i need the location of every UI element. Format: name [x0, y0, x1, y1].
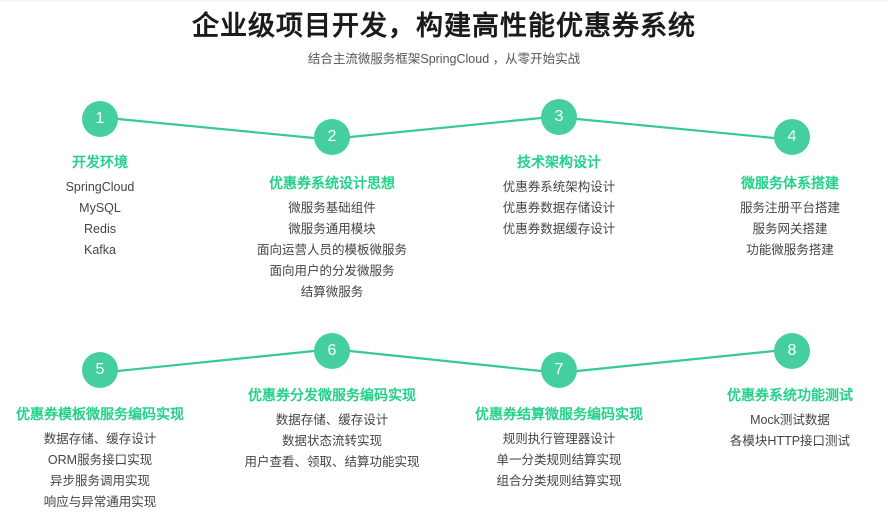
node-4-heading: 微服务体系搭建: [692, 173, 888, 193]
node-1-items: SpringCloud MySQL Redis Kafka: [0, 177, 200, 261]
list-item: 微服务通用模块: [232, 219, 432, 240]
node-5-heading: 优惠券模板微服务编码实现: [0, 404, 200, 424]
roadmap-infographic: 企业级项目开发，构建高性能优惠券系统 结合主流微服务框架SpringCloud …: [0, 0, 888, 519]
node-5-number[interactable]: 5: [82, 352, 118, 388]
list-item: 规则执行管理器设计: [459, 429, 659, 450]
list-item: 微服务基础组件: [232, 198, 432, 219]
node-1-number[interactable]: 1: [82, 101, 118, 137]
node-3-heading: 技术架构设计: [459, 152, 659, 172]
list-item: 用户查看、领取、结算功能实现: [232, 452, 432, 473]
list-item: 各模块HTTP接口测试: [692, 431, 888, 452]
list-item: 数据存储、缓存设计: [0, 429, 200, 450]
list-item: 优惠券系统架构设计: [459, 177, 659, 198]
list-item: 优惠券数据缓存设计: [459, 219, 659, 240]
list-item: Redis: [0, 219, 200, 240]
list-item: 单一分类规则结算实现: [459, 450, 659, 471]
list-item: 响应与异常通用实现: [0, 492, 200, 513]
node-7-heading: 优惠券结算微服务编码实现: [459, 404, 659, 424]
list-item: 异步服务调用实现: [0, 471, 200, 492]
list-item: 数据存储、缓存设计: [232, 410, 432, 431]
list-item: Mock测试数据: [692, 410, 888, 431]
node-8-heading: 优惠券系统功能测试: [692, 385, 888, 405]
list-item: ORM服务接口实现: [0, 450, 200, 471]
node-2-number[interactable]: 2: [314, 119, 350, 155]
node-7-items: 规则执行管理器设计 单一分类规则结算实现 组合分类规则结算实现: [459, 429, 659, 492]
node-3-items: 优惠券系统架构设计 优惠券数据存储设计 优惠券数据缓存设计: [459, 177, 659, 240]
node-8-items: Mock测试数据 各模块HTTP接口测试: [692, 410, 888, 452]
node-1-heading: 开发环境: [0, 152, 200, 172]
list-item: 服务网关搭建: [692, 219, 888, 240]
node-4-number[interactable]: 4: [774, 119, 810, 155]
list-item: 优惠券数据存储设计: [459, 198, 659, 219]
node-3-number[interactable]: 3: [541, 99, 577, 135]
list-item: Kafka: [0, 240, 200, 261]
list-item: 数据状态流转实现: [232, 431, 432, 452]
page-subtitle: 结合主流微服务框架SpringCloud ，从零开始实战: [0, 48, 888, 67]
node-6-heading: 优惠券分发微服务编码实现: [232, 385, 432, 405]
list-item: 面向运营人员的模板微服务: [232, 240, 432, 261]
node-6-number[interactable]: 6: [314, 333, 350, 369]
node-8-number[interactable]: 8: [774, 333, 810, 369]
node-6-items: 数据存储、缓存设计 数据状态流转实现 用户查看、领取、结算功能实现: [232, 410, 432, 473]
node-2-items: 微服务基础组件 微服务通用模块 面向运营人员的模板微服务 面向用户的分发微服务 …: [232, 198, 432, 303]
node-4-items: 服务注册平台搭建 服务网关搭建 功能微服务搭建: [692, 198, 888, 261]
list-item: MySQL: [0, 198, 200, 219]
node-2-heading: 优惠券系统设计思想: [232, 173, 432, 193]
list-item: 功能微服务搭建: [692, 240, 888, 261]
node-5-items: 数据存储、缓存设计 ORM服务接口实现 异步服务调用实现 响应与异常通用实现: [0, 429, 200, 513]
list-item: 服务注册平台搭建: [692, 198, 888, 219]
node-7-number[interactable]: 7: [541, 352, 577, 388]
list-item: 结算微服务: [232, 282, 432, 303]
list-item: SpringCloud: [0, 177, 200, 198]
list-item: 面向用户的分发微服务: [232, 261, 432, 282]
list-item: 组合分类规则结算实现: [459, 471, 659, 492]
page-title: 企业级项目开发，构建高性能优惠券系统: [0, 4, 888, 43]
